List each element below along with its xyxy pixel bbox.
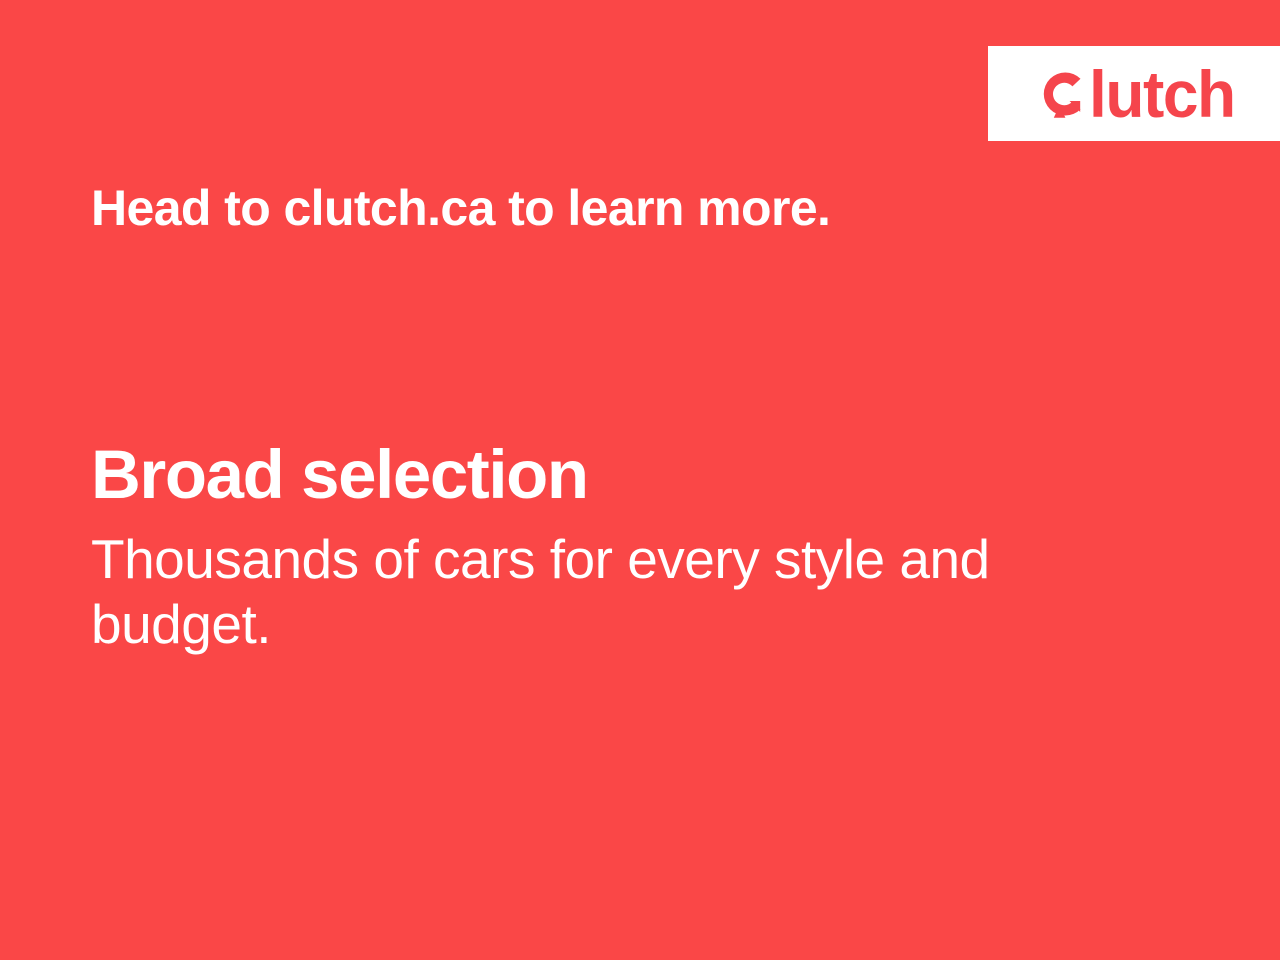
clutch-c-mark-icon	[1035, 65, 1087, 123]
clutch-wordmark: lutch	[1089, 63, 1235, 125]
headline-block: Broad selection Thousands of cars for ev…	[91, 436, 1071, 657]
clutch-logo-lockup[interactable]: lutch	[1035, 63, 1239, 125]
page-title: Broad selection	[91, 436, 1071, 514]
slide-canvas: lutch Head to clutch.ca to learn more. B…	[0, 0, 1280, 960]
kicker-text: Head to clutch.ca to learn more.	[91, 178, 830, 238]
subheadline-text: Thousands of cars for every style and bu…	[91, 527, 1021, 657]
brand-logo-plate[interactable]: lutch	[988, 46, 1280, 141]
